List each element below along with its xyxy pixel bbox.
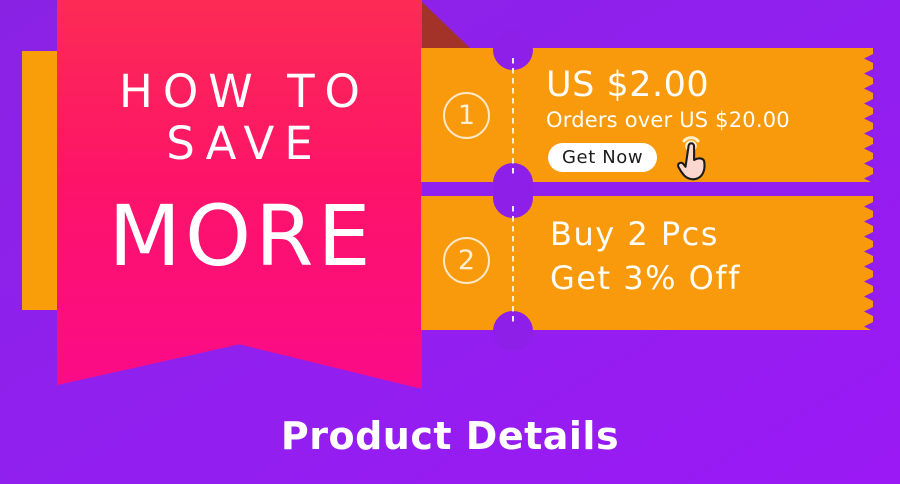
coupon-edge-tooth xyxy=(864,69,873,78)
coupon-edge-tooth xyxy=(864,307,873,316)
headline-line-3: MORE xyxy=(57,190,422,282)
coupon-perforation-line xyxy=(512,206,514,322)
coupon-edge-tooth xyxy=(864,114,873,123)
coupon-2-line-1: Buy 2 Pcs xyxy=(550,212,719,256)
coupon-edge-tooth xyxy=(864,277,873,286)
coupon-edge-tooth xyxy=(864,54,873,63)
pointing-hand-icon xyxy=(668,134,714,182)
coupon-edge-tooth xyxy=(864,202,873,211)
coupon-edge-tooth xyxy=(864,262,873,271)
coupon-edge-tooth xyxy=(864,129,873,138)
coupon-edge-tooth xyxy=(864,99,873,108)
get-now-button[interactable]: Get Now xyxy=(548,143,657,172)
coupon-edge-tooth xyxy=(864,174,873,183)
headline-line-2: SAVE xyxy=(57,118,422,170)
coupon-number-1: 1 xyxy=(443,92,490,139)
coupon-edge-tooth xyxy=(864,232,873,241)
coupon-2-line-2: Get 3% Off xyxy=(550,256,741,300)
coupon-perforation-line xyxy=(512,58,514,174)
headline-line-1: HOW TO xyxy=(57,66,422,118)
pink-ribbon: HOW TO SAVE MORE xyxy=(57,0,422,389)
promo-banner: HOW TO SAVE MORE 1 2 US $2.00 Orders xyxy=(0,0,900,484)
coupon-number-2: 2 xyxy=(443,237,490,284)
ribbon-shadow-triangle xyxy=(420,0,472,50)
coupon-edge-tooth xyxy=(864,292,873,301)
coupon-edge-tooth xyxy=(864,84,873,93)
product-details-title: Product Details xyxy=(0,413,900,459)
coupon-edge-tooth xyxy=(864,144,873,153)
coupon-edge-tooth xyxy=(864,322,873,331)
coupon-1-price: US $2.00 xyxy=(546,66,709,104)
coupon-edge-tooth xyxy=(864,217,873,226)
coupon-1-condition: Orders over US $20.00 xyxy=(546,108,790,132)
coupon-edge-tooth xyxy=(864,247,873,256)
coupon-edge-tooth xyxy=(864,159,873,168)
